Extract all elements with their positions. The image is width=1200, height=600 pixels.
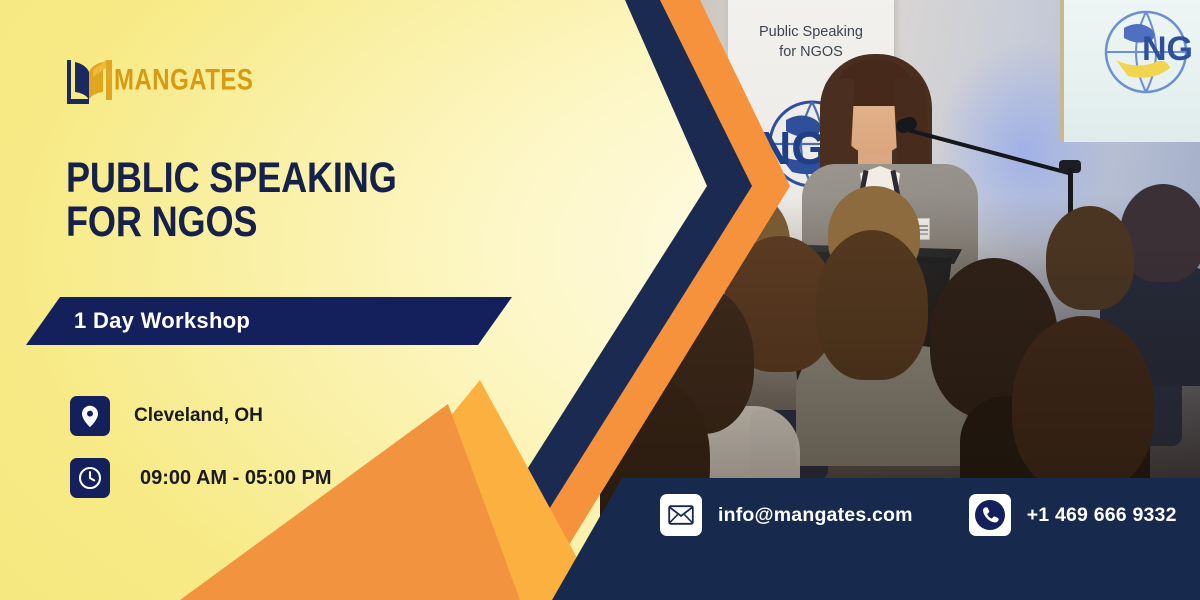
contact-phone[interactable]: +1 469 666 9332 xyxy=(969,494,1177,536)
contact-email[interactable]: info@mangates.com xyxy=(660,494,913,536)
event-time: 09:00 AM - 05:00 PM xyxy=(140,467,332,490)
map-pin-icon xyxy=(70,396,110,436)
workshop-format-badge: 1 Day Workshop xyxy=(26,297,512,345)
clock-icon xyxy=(70,458,110,498)
email-text: info@mangates.com xyxy=(718,504,913,527)
phone-text: +1 469 666 9332 xyxy=(1027,504,1177,527)
event-location: Cleveland, OH xyxy=(134,405,263,427)
event-time-row: 09:00 AM - 05:00 PM xyxy=(70,458,332,498)
open-book-m-icon xyxy=(62,52,118,108)
event-details: Cleveland, OH 09:00 AM - 05:00 PM xyxy=(70,396,332,520)
event-location-row: Cleveland, OH xyxy=(70,396,332,436)
workshop-format-label: 1 Day Workshop xyxy=(74,308,250,334)
page-title: PUBLIC SPEAKING FOR NGOS xyxy=(66,156,427,245)
phone-icon xyxy=(969,494,1011,536)
brand-name: MANGATES xyxy=(114,63,253,97)
event-banner: NG Public Speaking for NGOS NGO xyxy=(0,0,1200,600)
envelope-icon xyxy=(660,494,702,536)
brand-logo[interactable]: MANGATES xyxy=(62,52,259,108)
